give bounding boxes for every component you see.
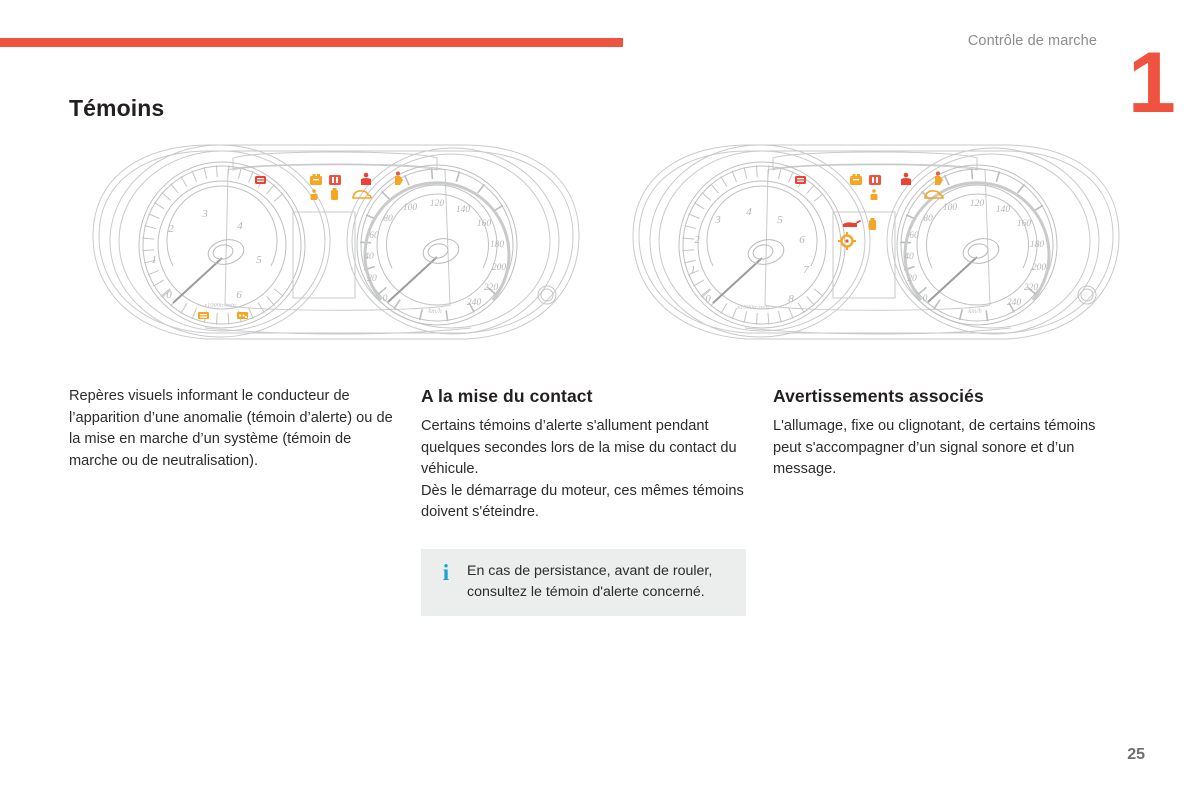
svg-text:80: 80 bbox=[923, 214, 933, 224]
svg-text:km/h: km/h bbox=[428, 307, 442, 315]
warnings-body: L'allumage, fixe ou clignotant, de certa… bbox=[773, 416, 1098, 481]
header-accent-rule bbox=[0, 38, 623, 47]
running-head: Contrôle de marche bbox=[968, 33, 1097, 49]
warnings-heading: Avertissements associés bbox=[773, 386, 1098, 407]
svg-text:100: 100 bbox=[943, 203, 958, 213]
chapter-number-tab: 1 bbox=[1128, 46, 1158, 121]
svg-text:7: 7 bbox=[803, 264, 809, 276]
svg-text:8: 8 bbox=[788, 293, 794, 305]
svg-text:km/h: km/h bbox=[968, 307, 982, 315]
svg-text:140: 140 bbox=[996, 205, 1011, 215]
svg-text:180: 180 bbox=[1030, 240, 1045, 250]
svg-text:3: 3 bbox=[201, 208, 208, 220]
svg-text:0: 0 bbox=[166, 289, 172, 301]
svg-text:20: 20 bbox=[907, 274, 917, 284]
info-callout: i En cas de persistance, avant de rouler… bbox=[421, 549, 746, 616]
svg-text:3: 3 bbox=[714, 214, 721, 226]
info-icon: i bbox=[439, 561, 453, 584]
svg-text:2: 2 bbox=[168, 223, 174, 235]
svg-text:80: 80 bbox=[383, 214, 393, 224]
svg-text:5: 5 bbox=[256, 254, 262, 266]
svg-text:20: 20 bbox=[367, 274, 377, 284]
page-number: 25 bbox=[1127, 746, 1145, 764]
column-intro: Repères visuels informant le conducteur … bbox=[69, 386, 394, 472]
telltale-bottom bbox=[198, 312, 248, 319]
ignition-heading: A la mise du contact bbox=[421, 386, 746, 407]
svg-text:6: 6 bbox=[799, 234, 805, 246]
svg-text:60: 60 bbox=[369, 231, 379, 241]
svg-text:220: 220 bbox=[1024, 283, 1039, 293]
svg-text:120: 120 bbox=[430, 199, 445, 209]
svg-text:60: 60 bbox=[909, 231, 919, 241]
svg-text:200: 200 bbox=[492, 263, 507, 273]
illustration-area: 0 1 2 3 4 5 6 x1000tr/min bbox=[0, 140, 1191, 355]
svg-text:0: 0 bbox=[705, 293, 711, 305]
svg-text:0: 0 bbox=[383, 294, 388, 304]
svg-text:x1000tr/min: x1000tr/min bbox=[203, 302, 236, 309]
ignition-body-1: Certains témoins d’alerte s'allument pen… bbox=[421, 416, 746, 481]
svg-text:1: 1 bbox=[151, 254, 157, 266]
svg-text:200: 200 bbox=[1032, 263, 1047, 273]
svg-text:4: 4 bbox=[746, 206, 752, 218]
column-warnings: Avertissements associés L'allumage, fixe… bbox=[773, 386, 1098, 481]
svg-text:160: 160 bbox=[1017, 219, 1032, 229]
svg-text:100: 100 bbox=[403, 203, 418, 213]
svg-text:0: 0 bbox=[923, 294, 928, 304]
svg-text:1: 1 bbox=[690, 264, 696, 276]
column-ignition: A la mise du contact Certains témoins d’… bbox=[421, 386, 746, 524]
ignition-body-2: Dès le démarrage du moteur, ces mêmes té… bbox=[421, 481, 746, 524]
svg-text:220: 220 bbox=[484, 283, 499, 293]
svg-text:40: 40 bbox=[904, 252, 914, 262]
intro-body: Repères visuels informant le conducteur … bbox=[69, 386, 394, 472]
instrument-cluster-left: 0 1 2 3 4 5 6 x1000tr/min bbox=[85, 140, 585, 345]
svg-text:120: 120 bbox=[970, 199, 985, 209]
svg-text:240: 240 bbox=[467, 298, 482, 308]
svg-text:6: 6 bbox=[236, 289, 242, 301]
svg-text:2: 2 bbox=[694, 234, 700, 246]
svg-text:x1000tr/min: x1000tr/min bbox=[736, 304, 769, 311]
svg-text:140: 140 bbox=[456, 205, 471, 215]
svg-text:5: 5 bbox=[777, 214, 783, 226]
svg-text:40: 40 bbox=[364, 252, 374, 262]
svg-text:4: 4 bbox=[237, 220, 243, 232]
svg-text:240: 240 bbox=[1007, 298, 1022, 308]
svg-text:180: 180 bbox=[490, 240, 505, 250]
page-title: Témoins bbox=[69, 95, 164, 122]
instrument-cluster-right: 0 1 2 3 4 5 6 7 8 x1000tr/min bbox=[625, 140, 1125, 345]
info-callout-text: En cas de persistance, avant de rouler, … bbox=[467, 561, 734, 603]
svg-text:160: 160 bbox=[477, 219, 492, 229]
